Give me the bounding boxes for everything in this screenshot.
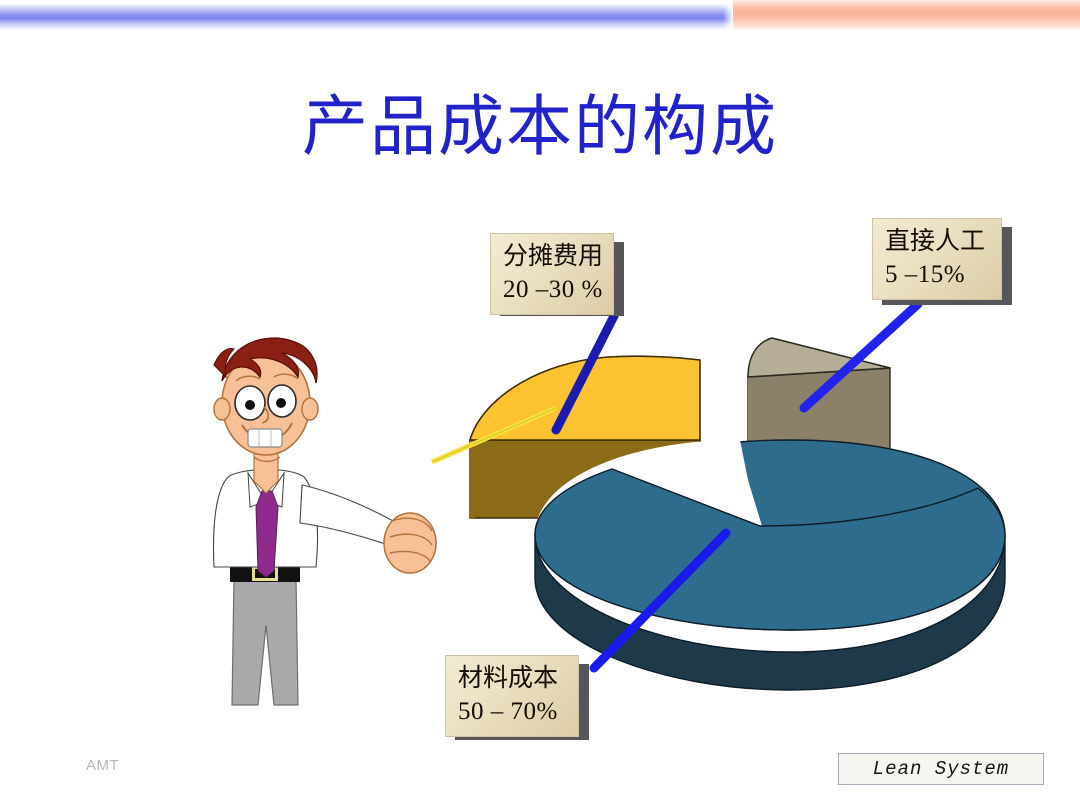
callout-value: 50 – 70% xyxy=(458,695,566,728)
hand xyxy=(384,513,436,573)
callout-box: 分摊费用 20 –30 % xyxy=(490,233,614,315)
teeth xyxy=(248,429,282,447)
callout-overhead[interactable]: 分摊费用 20 –30 % xyxy=(490,233,614,307)
slide-canvas: 产品成本的构成 xyxy=(0,0,1080,809)
tie xyxy=(256,491,278,577)
pie-slice-material xyxy=(535,440,1005,690)
pants xyxy=(232,577,298,705)
callout-value: 20 –30 % xyxy=(503,273,601,306)
presenter-svg xyxy=(170,325,450,765)
callout-material[interactable]: 材料成本 50 – 70% xyxy=(445,655,579,731)
amt-watermark: AMT xyxy=(86,757,119,774)
top-bar-orange xyxy=(733,0,1080,31)
lean-system-label: Lean System xyxy=(873,758,1009,780)
callout-label: 分摊费用 xyxy=(503,240,601,273)
callout-label: 直接人工 xyxy=(885,225,989,258)
cartoon-presenter xyxy=(170,325,450,765)
top-bar-blue xyxy=(0,1,733,30)
callout-box: 材料成本 50 – 70% xyxy=(445,655,579,737)
callout-box: 直接人工 5 –15% xyxy=(872,218,1002,300)
pie-chart-3d xyxy=(430,330,1050,710)
lean-system-badge[interactable]: Lean System xyxy=(838,753,1044,785)
page-title: 产品成本的构成 xyxy=(0,88,1080,168)
callout-value: 5 –15% xyxy=(885,258,989,291)
callout-label: 材料成本 xyxy=(458,662,566,695)
pie-chart-svg xyxy=(430,330,1050,710)
callout-labor[interactable]: 直接人工 5 –15% xyxy=(872,218,1002,296)
